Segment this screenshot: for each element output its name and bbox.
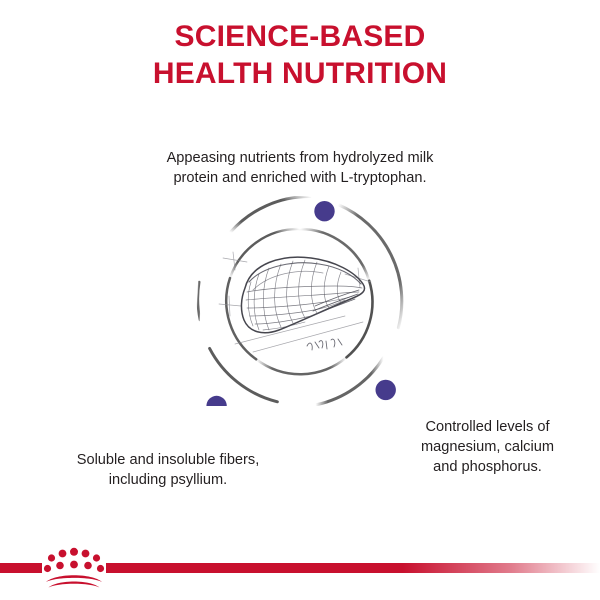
feature-caption-fibers-psyllium: Soluble and insoluble fibers, including … <box>8 450 328 490</box>
orbit-node-bottom-left <box>206 396 226 406</box>
feature-caption-line-1: Controlled levels of <box>380 417 595 437</box>
page-title-line-2: HEALTH NUTRITION <box>0 55 600 92</box>
page-title: SCIENCE-BASED HEALTH NUTRITION <box>0 18 600 92</box>
feature-caption-line-1: Appeasing nutrients from hydrolyzed milk <box>0 148 600 168</box>
feature-caption-line-1: Soluble and insoluble fibers, <box>8 450 328 470</box>
feature-caption-line-2: including psyllium. <box>8 470 328 490</box>
feature-caption-line-2: magnesium, calcium <box>380 437 595 457</box>
brand-bar-left-segment <box>0 563 42 573</box>
feature-caption-mineral-levels: Controlled levels of magnesium, calcium … <box>380 417 595 477</box>
orbit-node-bottom-right <box>376 380 396 400</box>
royal-canin-brand-bar <box>0 540 600 600</box>
poster-canvas: SCIENCE-BASED HEALTH NUTRITION Appeasing… <box>0 0 600 600</box>
orbit-node-top-right <box>314 201 334 221</box>
feature-caption-hydrolyzed-milk-protein: Appeasing nutrients from hydrolyzed milk… <box>0 148 600 188</box>
kibble-sketch-icon <box>219 252 371 352</box>
feature-caption-line-2: protein and enriched with L-tryptophan. <box>0 168 600 188</box>
royal-canin-crown-icon <box>44 548 104 588</box>
brand-bar-right-segment <box>106 563 600 573</box>
feature-caption-line-3: and phosphorus. <box>380 457 595 477</box>
page-title-line-1: SCIENCE-BASED <box>0 18 600 55</box>
kibble-orbit-diagram <box>195 196 405 406</box>
